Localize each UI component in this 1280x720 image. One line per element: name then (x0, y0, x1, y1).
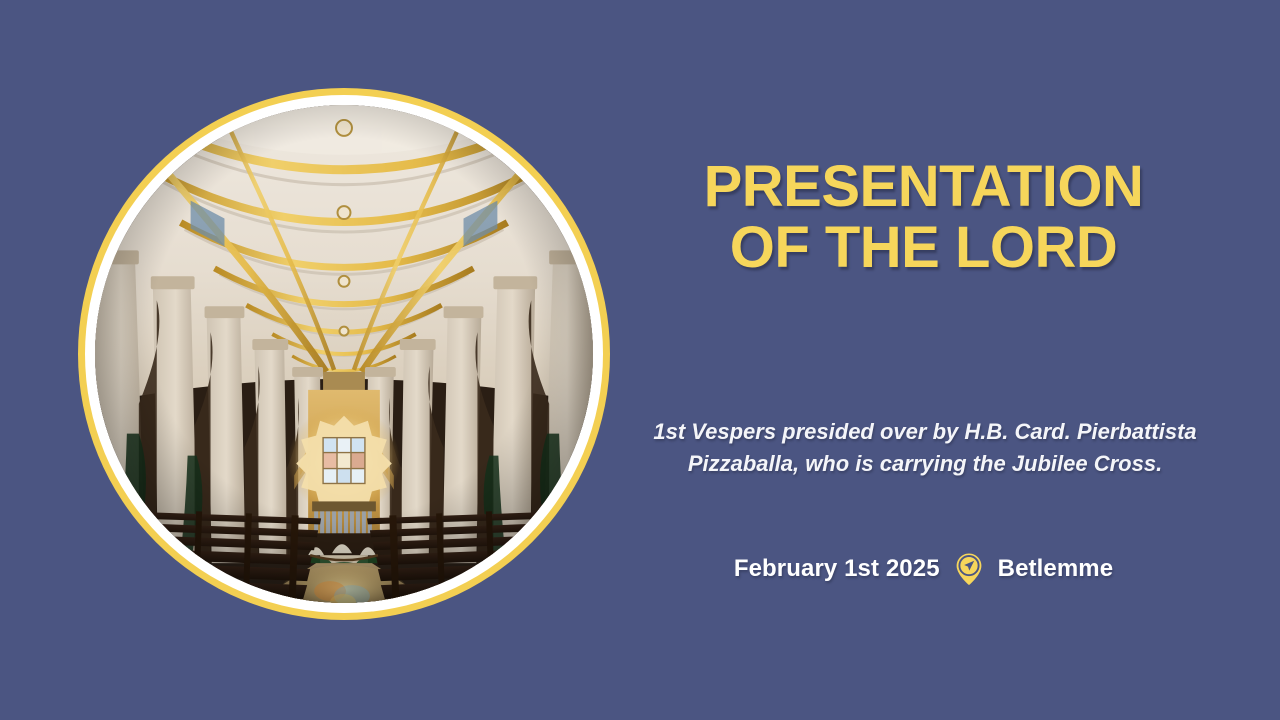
photo-medallion (78, 88, 610, 620)
presentation-slide: PRESENTATION OF THE LORD 1st Vespers pre… (0, 0, 1280, 720)
event-description: 1st Vespers presided over by H.B. Card. … (642, 416, 1208, 480)
church-illustration (95, 105, 593, 603)
map-pin-navigation-icon (954, 552, 984, 586)
page-title: PRESENTATION OF THE LORD (636, 156, 1211, 279)
event-location: Betlemme (998, 555, 1114, 583)
church-interior-photo (95, 105, 593, 603)
event-meta: February 1st 2025 Betlemme (636, 552, 1211, 586)
photo-frame-inner-ring (85, 95, 603, 613)
text-column: PRESENTATION OF THE LORD 1st Vespers pre… (636, 0, 1211, 720)
event-date: February 1st 2025 (734, 555, 940, 583)
